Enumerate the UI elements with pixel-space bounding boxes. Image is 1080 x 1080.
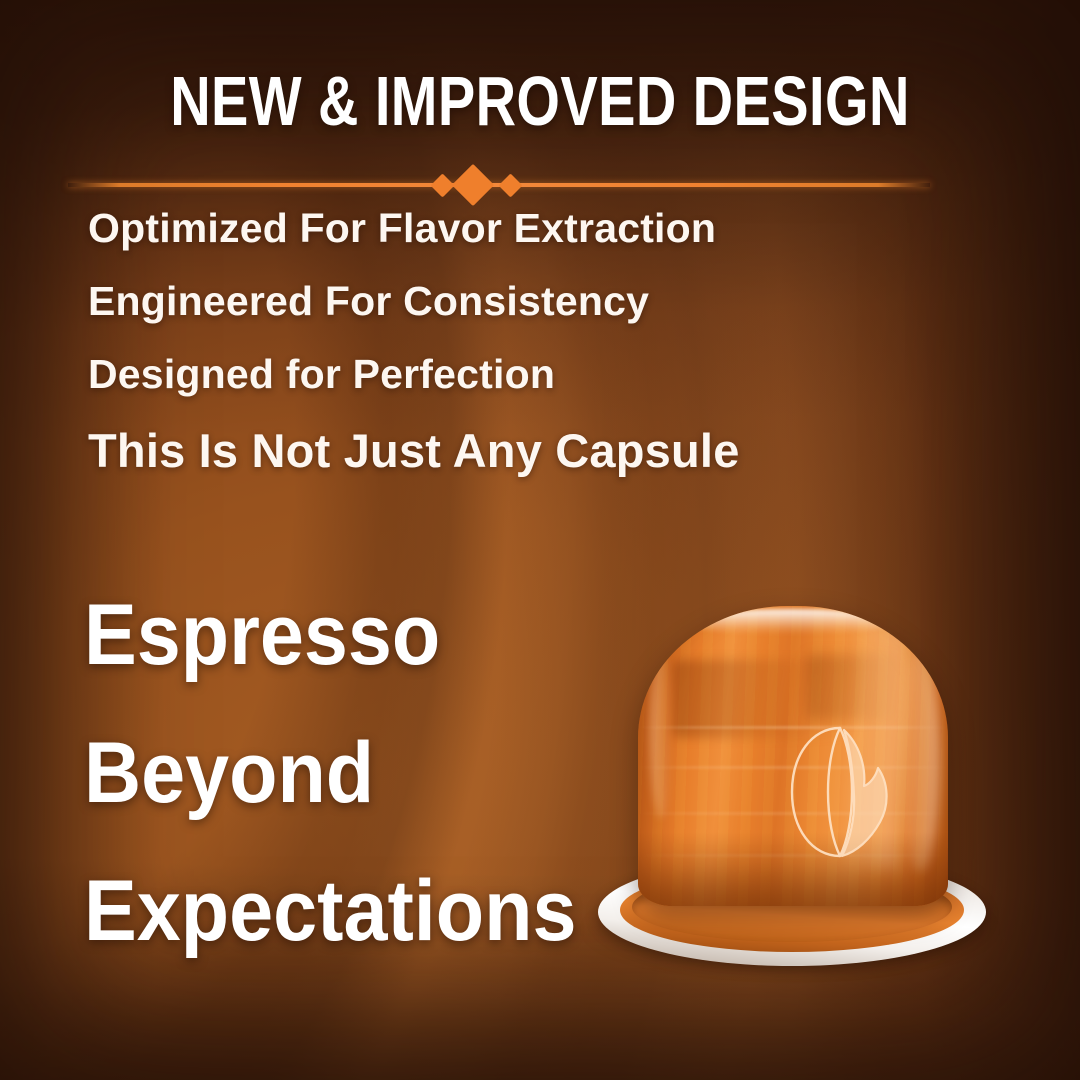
feature-item-4: This Is Not Just Any Capsule [88,427,908,474]
divider-ornament [68,168,930,202]
product-tagline: Espresso Beyond Expectations [84,592,644,954]
page-title: NEW & IMPROVED DESIGN [108,66,972,137]
poster-canvas: NEW & IMPROVED DESIGN Optimized For Flav… [0,0,1080,1080]
feature-item-3: Designed for Perfection [88,354,908,395]
capsule-highlight-top [684,609,896,635]
diamond-small-left-icon [430,173,454,197]
diamond-small-right-icon [498,173,522,197]
feature-item-2: Engineered For Consistency [88,281,908,322]
capsule-body [638,606,948,906]
capsule-highlight-left [650,650,672,818]
product-image-coffee-capsule [580,586,1000,978]
diamond-large-center-icon [452,164,494,206]
feature-list: Optimized For Flavor Extraction Engineer… [88,208,908,474]
tagline-line-2: Beyond [84,730,599,816]
feature-item-1: Optimized For Flavor Extraction [88,208,908,249]
coffee-bean-flame-icon [784,722,896,862]
tagline-line-1: Espresso [84,592,599,678]
tagline-line-3: Expectations [84,868,599,954]
